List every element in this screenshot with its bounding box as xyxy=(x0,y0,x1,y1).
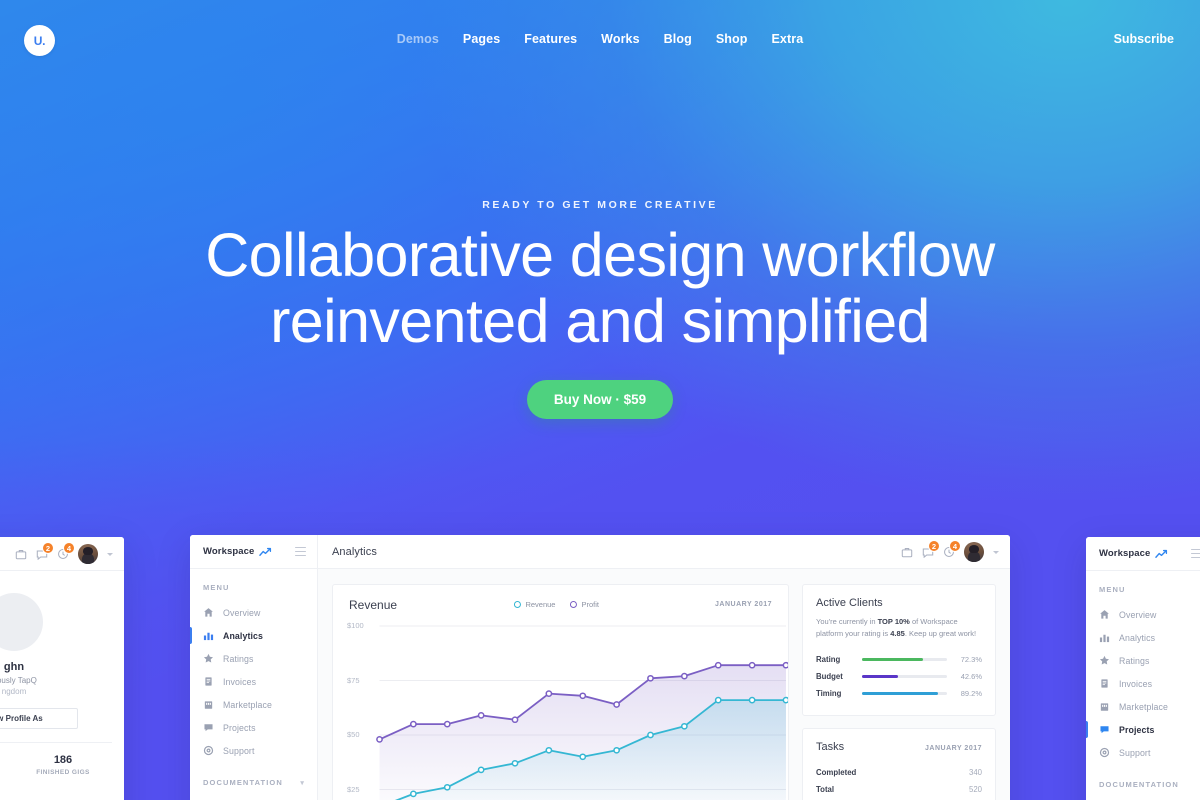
sidebar-item-invoices[interactable]: Invoices xyxy=(190,670,317,693)
hero-headline: Collaborative design workflow reinvented… xyxy=(0,222,1200,354)
desc-pre: You're currently in xyxy=(816,617,878,626)
metric-row-timing: Timing 89.2% xyxy=(816,685,982,702)
briefcase-icon[interactable] xyxy=(901,546,913,558)
revenue-card-header: Revenue Revenue Profit JANUARY 2017 xyxy=(333,585,788,612)
metric-fill xyxy=(862,675,898,678)
notifications-badge: 4 xyxy=(949,540,961,552)
notifications-icon[interactable]: 4 xyxy=(943,546,955,558)
metric-label: Budget xyxy=(816,672,862,681)
legend-item-revenue[interactable]: Revenue xyxy=(513,600,555,609)
metric-track xyxy=(862,692,947,695)
metric-label: Rating xyxy=(816,655,862,664)
tasks-row-total: Total 520 xyxy=(816,781,982,798)
legend-label: Revenue xyxy=(525,600,555,609)
brand-label: Workspace xyxy=(203,546,254,557)
chevron-down-icon[interactable] xyxy=(107,553,113,556)
metric-label: Timing xyxy=(816,689,862,698)
headline-line-2: reinvented and simplified xyxy=(0,288,1200,354)
trend-arrow-icon xyxy=(259,547,272,557)
active-clients-card: Active Clients You're currently in TOP 1… xyxy=(802,584,996,716)
trend-arrow-icon xyxy=(1155,549,1168,559)
chevron-down-icon[interactable] xyxy=(993,551,999,554)
active-clients-title: Active Clients xyxy=(816,597,982,609)
notifications-icon[interactable]: 4 xyxy=(57,548,69,560)
sidebar-item-projects[interactable]: Projects xyxy=(190,716,317,739)
sidebar-documentation-label: DOCUMENTATION xyxy=(203,778,283,787)
profile-stat-label: NTS xyxy=(0,769,14,776)
menu-toggle-icon[interactable] xyxy=(295,547,306,559)
chat-icon xyxy=(203,722,214,733)
sidebar-item-label: Projects xyxy=(1119,725,1155,735)
view-profile-as-button[interactable]: View Profile As xyxy=(0,708,78,729)
profile-stat-label: FINISHED GIGS xyxy=(14,769,112,776)
sidebar-item-label: Analytics xyxy=(1119,633,1155,643)
revenue-chart: $100$75$50$25 xyxy=(333,620,788,800)
sidebar-section-documentation[interactable]: DOCUMENTATION xyxy=(1086,780,1200,789)
nav-item-features[interactable]: Features xyxy=(524,32,577,46)
metric-value: 42.6% xyxy=(956,672,982,681)
messages-badge: 2 xyxy=(42,542,54,554)
tasks-row-label: Completed xyxy=(816,768,856,777)
nav-item-extra[interactable]: Extra xyxy=(771,32,803,46)
profile-dashboard-card: 2 4 ghn viously TapQ ngdom View Profile … xyxy=(0,537,124,800)
profile-stat: 186 FINISHED GIGS xyxy=(14,754,112,776)
projects-dashboard-card: Workspace MENU Overview Analytics xyxy=(1086,537,1200,800)
revenue-date: JANUARY 2017 xyxy=(715,601,772,608)
tasks-row-label: Total xyxy=(816,785,834,794)
nav-item-shop[interactable]: Shop xyxy=(716,32,748,46)
sidebar-item-label: Invoices xyxy=(1119,679,1152,689)
bar-chart-icon xyxy=(1099,632,1110,643)
chart-y-tick: $75 xyxy=(347,676,360,685)
profile-topbar: 2 4 xyxy=(0,537,124,571)
chart-y-tick: $25 xyxy=(347,785,360,794)
menu-toggle-icon[interactable] xyxy=(1191,549,1200,561)
chat-icon xyxy=(1099,724,1110,735)
profile-stat: 4 NTS xyxy=(0,754,14,776)
brand-label: Workspace xyxy=(1099,548,1150,559)
main-content: Revenue Revenue Profit JANUARY 2017 xyxy=(318,569,1010,800)
store-icon xyxy=(203,699,214,710)
tasks-row-value: 340 xyxy=(969,768,982,777)
sidebar-item-support[interactable]: Support xyxy=(190,739,317,762)
metric-row-budget: Budget 42.6% xyxy=(816,668,982,685)
sidebar-section-menu: MENU xyxy=(190,583,317,592)
navbar: U. Demos Pages Features Works Blog Shop … xyxy=(0,0,1200,82)
tasks-header: Tasks JANUARY 2017 xyxy=(816,741,982,753)
workspace-brand[interactable]: Workspace xyxy=(1086,537,1200,571)
tasks-date: JANUARY 2017 xyxy=(925,745,982,752)
page-title: Analytics xyxy=(318,546,377,558)
headline-line-1: Collaborative design workflow xyxy=(0,222,1200,288)
right-sidebar: MENU Overview Analytics Ratings Invoices xyxy=(1086,571,1200,800)
sidebar-section-menu: MENU xyxy=(1086,585,1200,594)
sidebar-item-label: Marketplace xyxy=(1119,702,1168,712)
profile-avatar xyxy=(0,593,43,651)
sidebar-item-label: Ratings xyxy=(1119,656,1150,666)
tasks-card: Tasks JANUARY 2017 Completed 340 Total 5… xyxy=(802,728,996,800)
star-icon xyxy=(1099,655,1110,666)
sidebar-item-analytics[interactable]: Analytics xyxy=(1086,626,1200,649)
sidebar-item-label: Marketplace xyxy=(223,700,272,710)
desc-post: . Keep up great work! xyxy=(905,629,976,638)
sidebar-item-invoices[interactable]: Invoices xyxy=(1086,672,1200,695)
messages-icon[interactable]: 2 xyxy=(922,546,934,558)
nav-item-works[interactable]: Works xyxy=(601,32,639,46)
sidebar-item-label: Support xyxy=(223,746,255,756)
cta-container: Buy Now · $59 xyxy=(0,380,1200,419)
buy-now-button[interactable]: Buy Now · $59 xyxy=(527,380,673,419)
desc-top10: TOP 10% xyxy=(878,617,910,626)
sidebar-item-label: Overview xyxy=(223,608,260,618)
avatar[interactable] xyxy=(78,544,98,564)
profile-location: ngdom xyxy=(0,687,112,696)
nav-item-demos[interactable]: Demos xyxy=(397,32,439,46)
invoice-icon xyxy=(203,676,214,687)
star-icon xyxy=(203,653,214,664)
sidebar-item-support[interactable]: Support xyxy=(1086,741,1200,764)
analytics-side-column: Active Clients You're currently in TOP 1… xyxy=(802,584,996,800)
tasks-title: Tasks xyxy=(816,741,844,753)
main-sidebar: MENU Overview Analytics Ratings Invoices xyxy=(190,569,318,800)
lifebuoy-icon xyxy=(1099,747,1110,758)
subscribe-link[interactable]: Subscribe xyxy=(1114,32,1174,46)
chevron-down-icon: ▾ xyxy=(300,779,305,787)
profile-subtitle: viously TapQ xyxy=(0,676,112,685)
messages-icon[interactable]: 2 xyxy=(36,548,48,560)
sidebar-menu-label: MENU xyxy=(203,583,229,592)
active-clients-description: You're currently in TOP 10% of Workspace… xyxy=(816,616,982,640)
sidebar-item-projects[interactable]: Projects xyxy=(1086,718,1200,741)
sidebar-item-label: Overview xyxy=(1119,610,1156,620)
chart-legend: Revenue Profit xyxy=(513,600,599,609)
desc-rating: 4.85 xyxy=(890,629,905,638)
revenue-chart-svg xyxy=(333,620,788,800)
tasks-row-value: 520 xyxy=(969,785,982,794)
sidebar-menu-label: MENU xyxy=(1099,585,1125,594)
legend-item-profit[interactable]: Profit xyxy=(569,600,599,609)
hero-eyebrow: READY TO GET MORE CREATIVE xyxy=(0,199,1200,211)
revenue-title: Revenue xyxy=(349,598,397,612)
profile-stat-number: 4 xyxy=(0,754,14,766)
metric-track xyxy=(862,658,947,661)
main-topbar-actions: 2 4 xyxy=(901,535,999,569)
sidebar-section-documentation[interactable]: DOCUMENTATION ▾ xyxy=(190,778,317,787)
analytics-dashboard-card: Workspace Analytics 2 xyxy=(190,535,1010,800)
sidebar-item-overview[interactable]: Overview xyxy=(1086,603,1200,626)
sidebar-documentation-label: DOCUMENTATION xyxy=(1099,780,1179,789)
metric-fill xyxy=(862,658,923,661)
sidebar-item-label: Ratings xyxy=(223,654,254,664)
sidebar-item-marketplace[interactable]: Marketplace xyxy=(190,693,317,716)
nav-item-pages[interactable]: Pages xyxy=(463,32,500,46)
sidebar-item-label: Support xyxy=(1119,748,1151,758)
revenue-card: Revenue Revenue Profit JANUARY 2017 xyxy=(332,584,789,800)
metric-track xyxy=(862,675,947,678)
avatar[interactable] xyxy=(964,542,984,562)
lifebuoy-icon xyxy=(203,745,214,756)
notifications-badge: 4 xyxy=(63,542,75,554)
store-icon xyxy=(1099,701,1110,712)
profile-body: ghn viously TapQ ngdom View Profile As 4… xyxy=(0,571,124,790)
nav-links: Demos Pages Features Works Blog Shop Ext… xyxy=(0,32,1200,46)
chart-y-tick: $50 xyxy=(347,730,360,739)
legend-dot-profit xyxy=(569,601,576,608)
briefcase-icon[interactable] xyxy=(15,548,27,560)
metric-value: 72.3% xyxy=(956,655,982,664)
metric-value: 89.2% xyxy=(956,689,982,698)
sidebar-item-analytics[interactable]: Analytics xyxy=(190,624,317,647)
metric-row-rating: Rating 72.3% xyxy=(816,651,982,668)
sidebar-item-ratings[interactable]: Ratings xyxy=(190,647,317,670)
sidebar-item-label: Projects xyxy=(223,723,256,733)
main-topbar: Workspace Analytics 2 xyxy=(190,535,1010,569)
sidebar-item-overview[interactable]: Overview xyxy=(190,601,317,624)
profile-stats: 4 NTS 186 FINISHED GIGS xyxy=(0,742,112,776)
tasks-row-completed: Completed 340 xyxy=(816,764,982,781)
legend-label: Profit xyxy=(581,600,599,609)
messages-badge: 2 xyxy=(928,540,940,552)
right-topbar: Workspace xyxy=(1086,537,1200,571)
sidebar-item-ratings[interactable]: Ratings xyxy=(1086,649,1200,672)
bar-chart-icon xyxy=(203,630,214,641)
nav-item-blog[interactable]: Blog xyxy=(664,32,692,46)
legend-dot-revenue xyxy=(513,601,520,608)
chart-y-tick: $100 xyxy=(347,621,364,630)
profile-name: ghn xyxy=(0,661,112,673)
invoice-icon xyxy=(1099,678,1110,689)
sidebar-item-label: Invoices xyxy=(223,677,256,687)
home-icon xyxy=(1099,609,1110,620)
sidebar-item-label: Analytics xyxy=(223,631,263,641)
metric-fill xyxy=(862,692,938,695)
sidebar-item-marketplace[interactable]: Marketplace xyxy=(1086,695,1200,718)
home-icon xyxy=(203,607,214,618)
profile-topbar-actions: 2 4 xyxy=(15,537,113,571)
profile-stat-number: 186 xyxy=(14,754,112,766)
